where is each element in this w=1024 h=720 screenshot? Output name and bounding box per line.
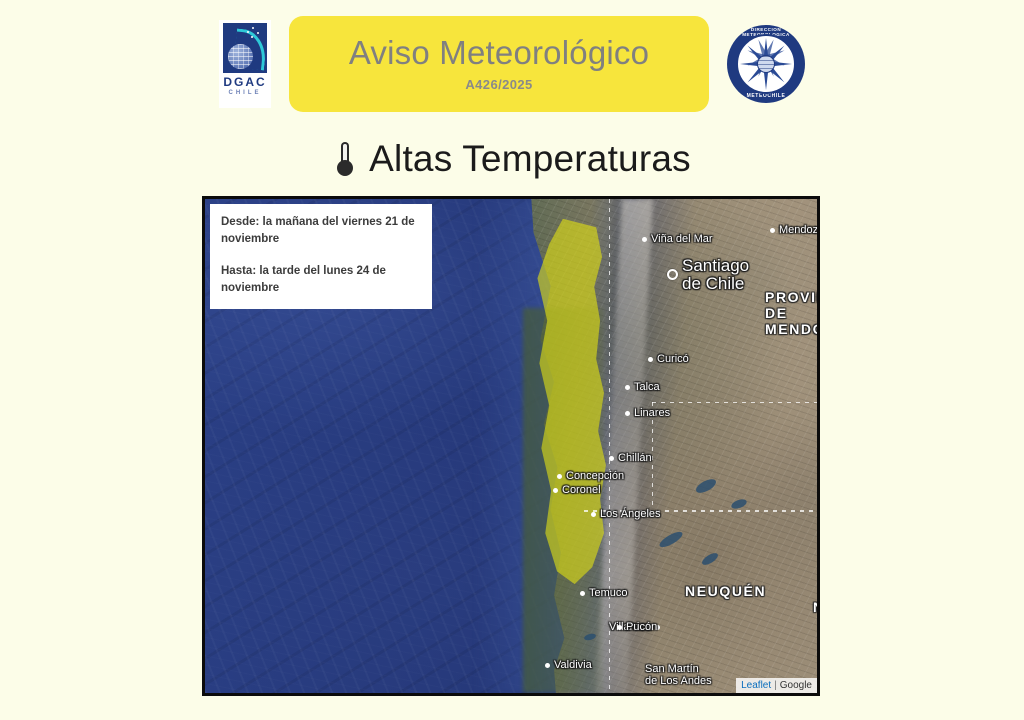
city-label: Los Ángeles [600,509,661,521]
thermometer-icon [333,140,357,176]
map-attribution: Leaflet | Google [736,678,817,693]
city-marker: Valdivia [545,660,592,672]
city-label: Temuco [589,588,628,600]
place-label: San Martín de Los Andes [645,663,712,687]
attribution-separator: | [774,679,777,692]
city-label: Curicó [657,354,689,366]
dgac-logo: DGAC CHILE [219,20,271,108]
city-marker: Linares [625,408,670,420]
map-canvas[interactable]: Viña del MarMendozaSantiago de ChileCuri… [205,199,817,693]
seal-inner-disc [736,34,796,94]
city-label: Mendoza [779,225,817,237]
city-dot-icon [770,228,775,233]
header-bar: DGAC CHILE Aviso Meteorológico A426/2025… [0,0,1024,128]
advisory-title: Aviso Meteorológico [349,36,649,71]
seal-globe-icon [757,55,775,73]
city-marker: Viña del Mar [642,234,713,246]
city-marker: Concepción [557,471,624,483]
dgac-logo-subtitle: CHILE [229,90,262,96]
city-dot-icon [545,663,550,668]
leaflet-link[interactable]: Leaflet [741,679,771,692]
advisory-to-text: Hasta: la tarde del lunes 24 de noviembr… [221,263,421,296]
city-marker: Pucón [617,622,657,634]
map-frame[interactable]: Viña del MarMendozaSantiago de ChileCuri… [202,196,820,696]
city-marker: Curicó [648,354,689,366]
dgac-logo-name: DGAC [223,76,266,88]
meteochile-seal: DIRECCION METEOROLOGICA METEOCHILE [727,25,805,103]
dgac-globe-logo-icon [223,23,267,73]
page-title: Altas Temperaturas [369,140,691,177]
city-marker: Los Ángeles [591,509,661,521]
city-dot-icon [667,269,678,280]
city-dot-icon [642,237,647,242]
city-label: Valdivia [554,660,592,672]
advisory-from-text: Desde: la mañana del viernes 21 de novie… [221,214,421,247]
city-dot-icon [553,488,558,493]
city-label: Concepción [566,471,624,483]
city-dot-icon [625,385,630,390]
stars-icon [246,27,262,40]
city-marker: Coronel [553,485,601,497]
national-border [609,199,611,693]
attribution-source: Google [780,679,812,692]
seal-bottom-text: METEOCHILE [727,94,805,99]
advisory-code: A426/2025 [465,77,532,92]
city-dot-icon [609,456,614,461]
city-marker: Temuco [580,588,628,600]
city-marker: Chillán [609,453,652,465]
city-label: Linares [634,408,670,420]
city-label: Pucón [626,622,657,634]
region-label: NEUQUÉN [685,583,766,599]
province-border-north [652,402,817,404]
advisory-banner: Aviso Meteorológico A426/2025 [289,16,709,112]
city-label: Santiago de Chile [682,257,749,293]
city-marker: Mendoza [770,225,817,237]
city-label: Chillán [618,453,652,465]
city-dot-icon [557,474,562,479]
advisory-period-box: Desde: la mañana del viernes 21 de novie… [210,204,432,309]
city-dot-icon [625,411,630,416]
city-label: Viña del Mar [651,234,713,246]
city-dot-icon [617,625,622,630]
city-dot-icon [591,512,596,517]
city-label: Talca [634,382,660,394]
region-label: PROVINCIA DE MENDOZA [765,289,817,337]
city-marker: Talca [625,382,660,394]
city-dot-icon [580,591,585,596]
event-title-row: Altas Temperaturas [0,132,1024,184]
city-marker: Santiago de Chile [667,257,749,293]
city-dot-icon [648,357,653,362]
city-label: Coronel [562,485,601,497]
region-label: N [813,599,817,615]
